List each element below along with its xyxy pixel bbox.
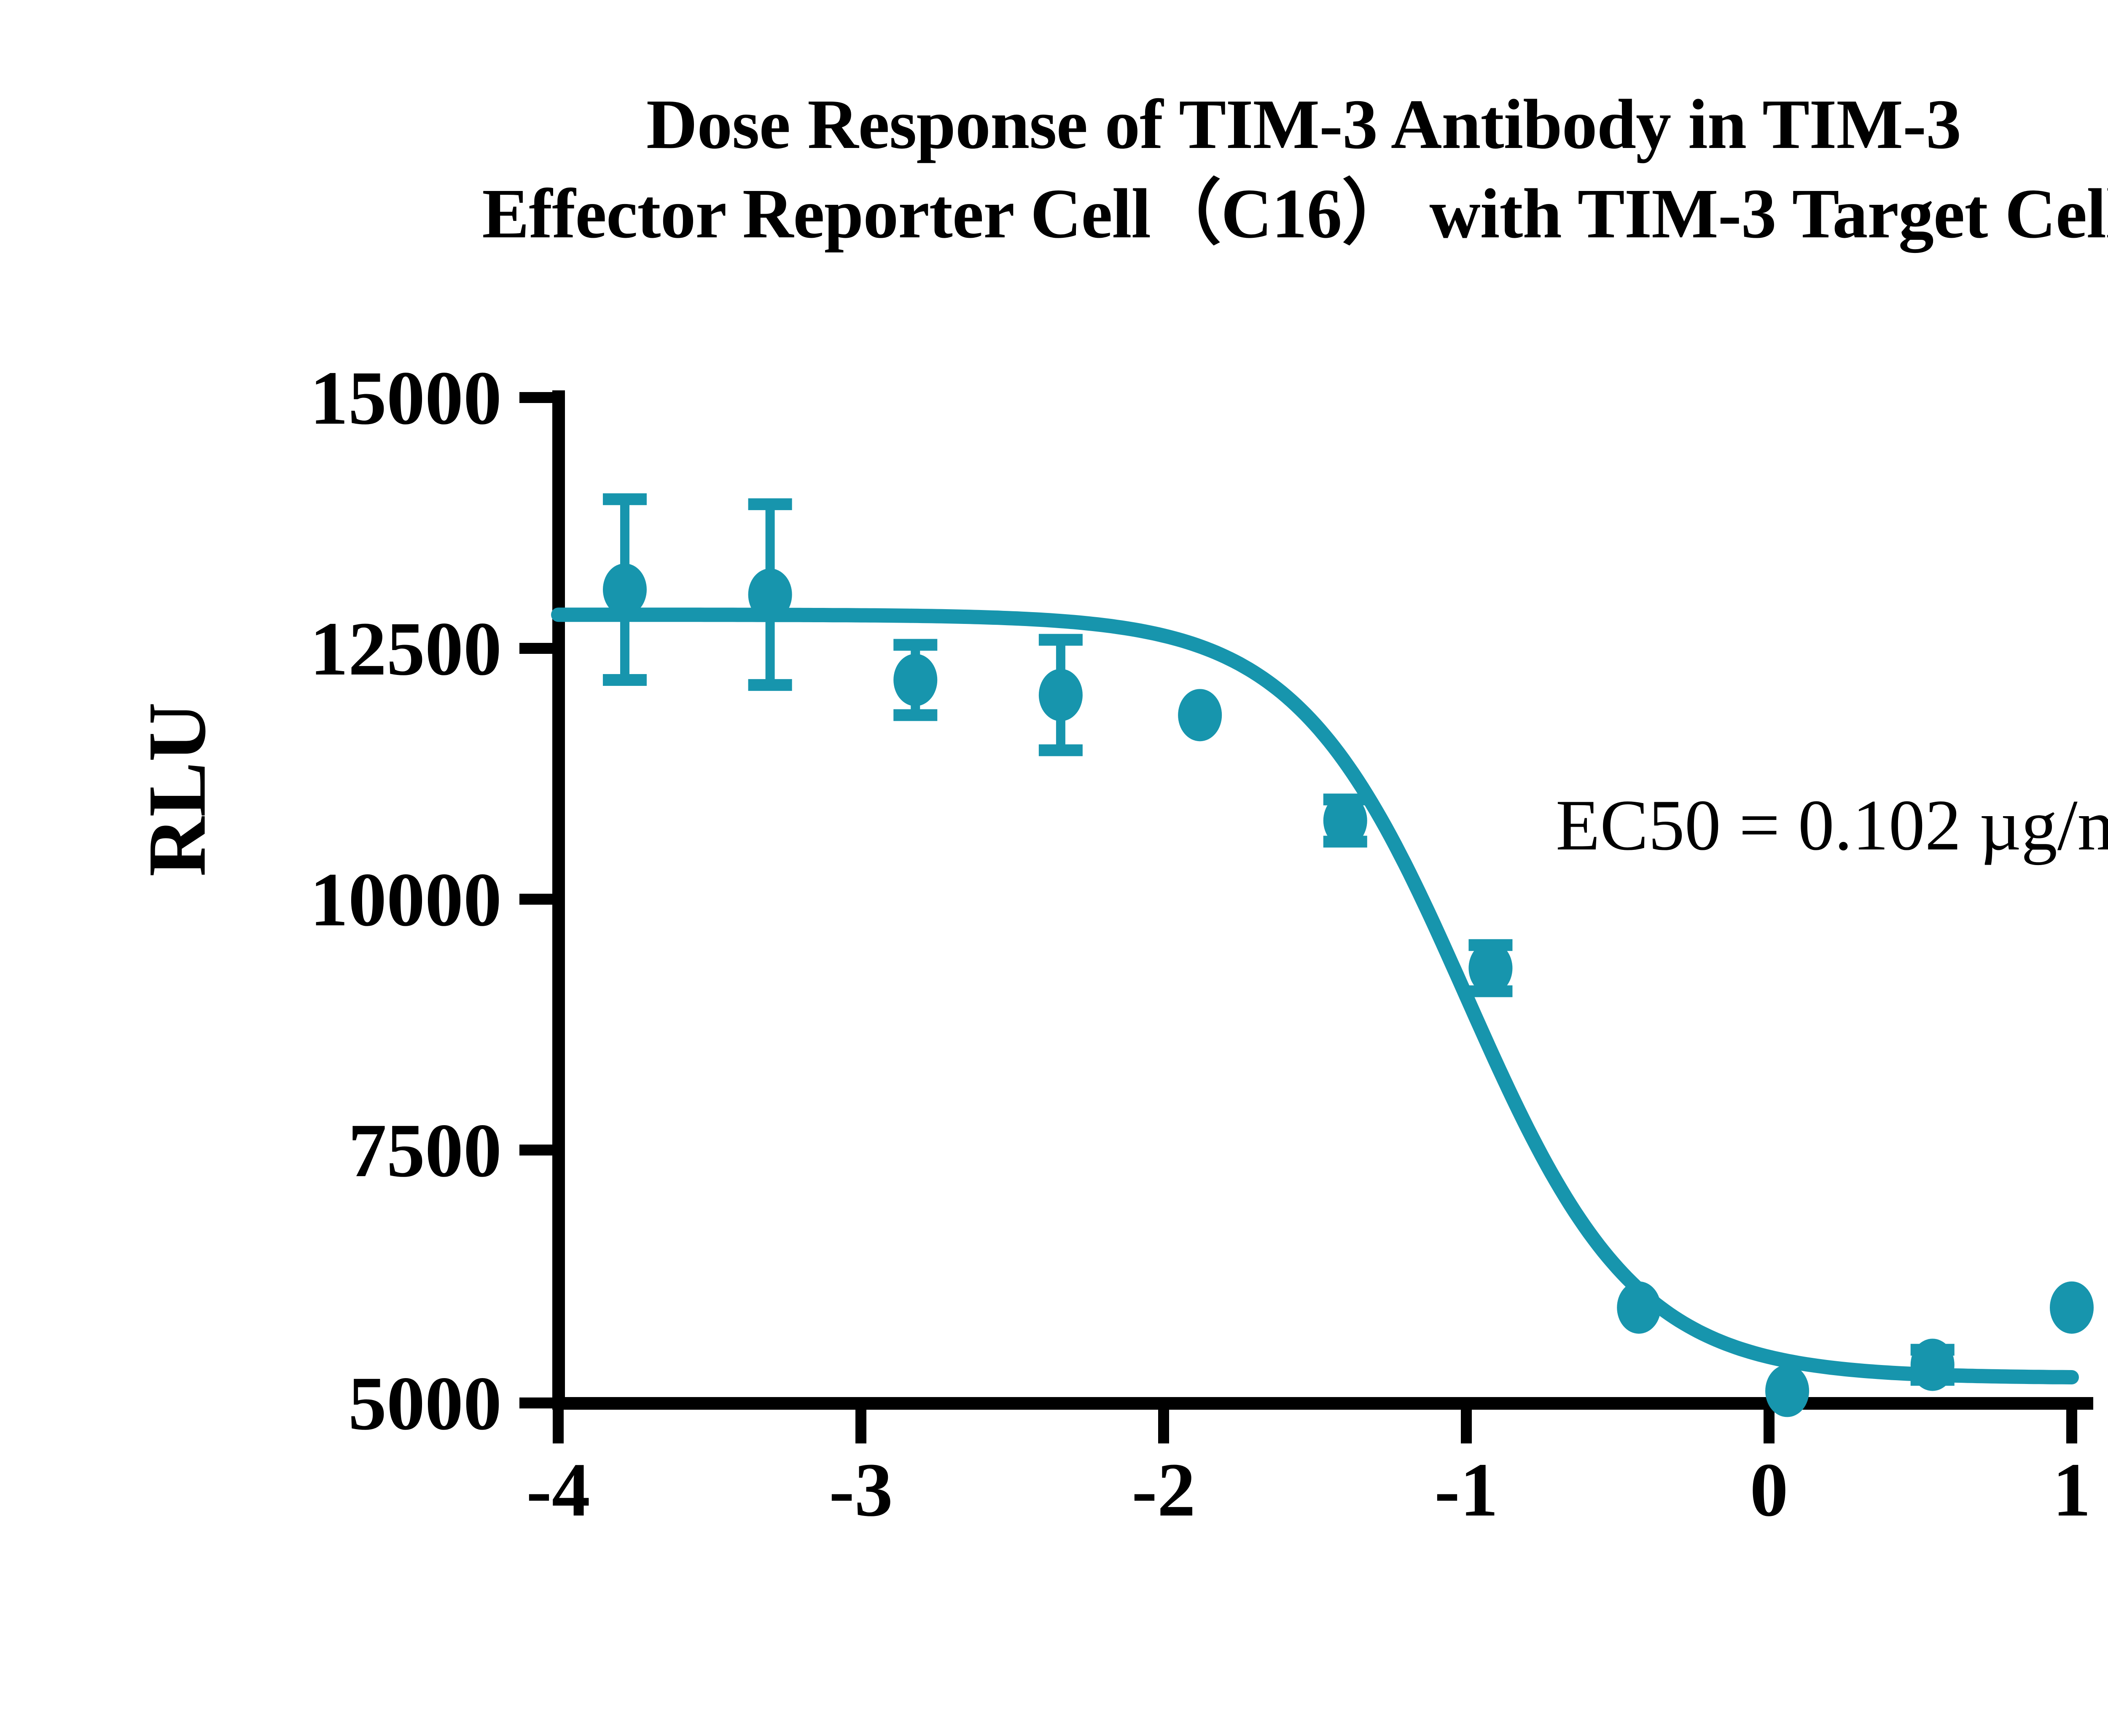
data-point — [748, 568, 792, 621]
data-point — [1468, 942, 1512, 994]
data-point — [1323, 794, 1367, 847]
chart-canvas: Dose Response of TIM-3 Antibody in TIM-3… — [0, 0, 2108, 1736]
error-bar-group — [603, 493, 1955, 1386]
data-point — [1765, 1365, 1809, 1417]
data-point — [1178, 689, 1222, 741]
data-point — [1617, 1282, 1661, 1334]
data-point — [893, 654, 937, 706]
fit-curve — [558, 615, 2072, 1377]
ec50-annotation: EC50 = 0.102 µg/ml — [1556, 784, 2108, 867]
data-point — [603, 564, 647, 616]
data-point — [1039, 669, 1083, 721]
data-point — [1911, 1338, 1955, 1391]
data-layer — [0, 0, 2108, 1736]
data-point — [2050, 1282, 2094, 1334]
data-point-group — [603, 564, 2094, 1417]
